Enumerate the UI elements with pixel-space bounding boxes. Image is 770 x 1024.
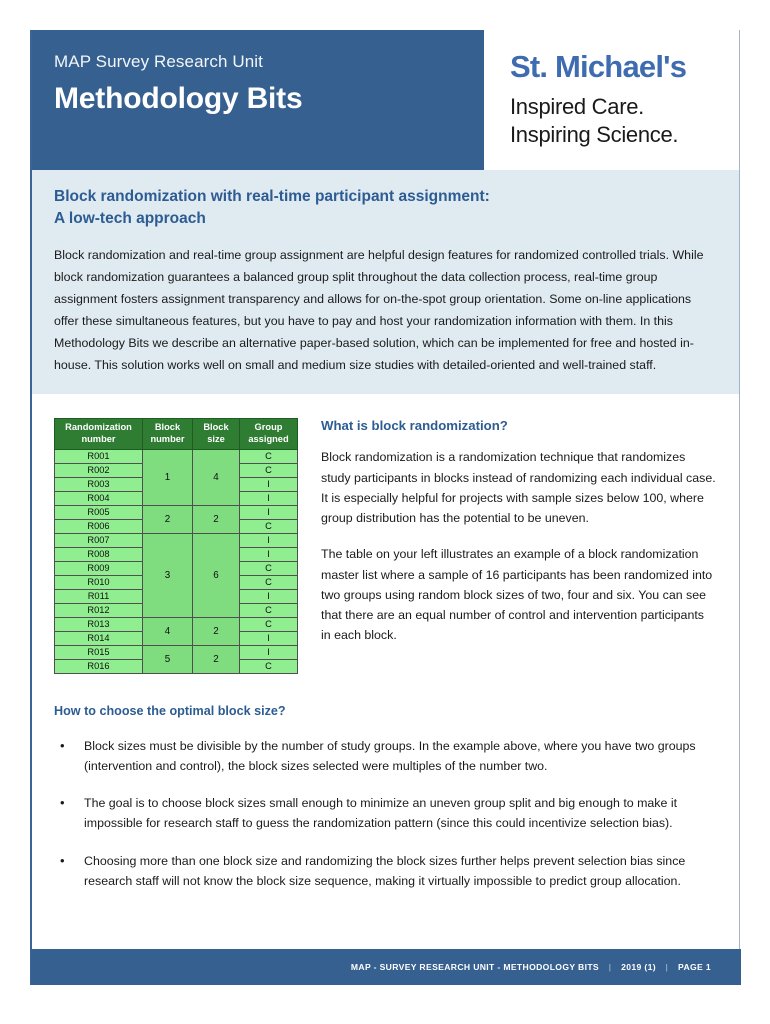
masthead-title-block: MAP Survey Research Unit Methodology Bit… [32,30,484,170]
cell-block-size: 4 [193,450,240,506]
sidebar-paragraph-2: The table on your left illustrates an ex… [321,544,717,645]
cell-group-assigned: C [240,618,298,632]
randomization-table: Randomization number Block number Block … [54,418,298,674]
footer-separator-2: | [666,962,669,972]
cell-randomization-number: R009 [55,562,143,576]
logo-brand-name: St. Michael's [510,50,739,84]
table-row: R00736I [55,534,298,548]
cell-group-assigned: I [240,506,298,520]
sidebar-heading: What is block randomization? [321,418,717,433]
cell-block-size: 2 [193,618,240,646]
block-size-heading: How to choose the optimal block size? [54,704,715,718]
article-title-line-2: A low-tech approach [54,208,717,230]
unit-kicker: MAP Survey Research Unit [54,52,484,72]
column-header-block-size: Block size [193,419,240,450]
cell-group-assigned: I [240,478,298,492]
cell-randomization-number: R012 [55,604,143,618]
cell-randomization-number: R008 [55,548,143,562]
cell-randomization-number: R006 [55,520,143,534]
content-columns: Randomization number Block number Block … [32,394,739,674]
cell-group-assigned: C [240,604,298,618]
randomization-table-body: R00114CR002CR003IR004IR00522IR006CR00736… [55,450,298,674]
sidebar-paragraph-1: Block randomization is a randomization t… [321,447,717,528]
intro-band: Block randomization with real-time parti… [32,170,739,394]
cell-randomization-number: R002 [55,464,143,478]
cell-randomization-number: R010 [55,576,143,590]
table-row: R00522I [55,506,298,520]
cell-group-assigned: I [240,632,298,646]
table-header-row: Randomization number Block number Block … [55,419,298,450]
cell-group-assigned: I [240,590,298,604]
list-item: Block sizes must be divisible by the num… [54,736,715,776]
logo-tagline-line-2: Inspiring Science. [510,121,739,149]
cell-randomization-number: R007 [55,534,143,548]
intro-paragraph: Block randomization and real-time group … [54,244,717,376]
cell-group-assigned: C [240,576,298,590]
cell-group-assigned: C [240,450,298,464]
block-size-section: How to choose the optimal block size? Bl… [32,674,739,891]
explanation-column: What is block randomization? Block rando… [321,416,717,674]
cell-group-assigned: C [240,562,298,576]
cell-group-assigned: C [240,520,298,534]
cell-randomization-number: R005 [55,506,143,520]
cell-randomization-number: R003 [55,478,143,492]
list-item: Choosing more than one block size and ra… [54,851,715,891]
table-column: Randomization number Block number Block … [54,416,299,674]
cell-block-size: 6 [193,534,240,618]
table-row: R00114C [55,450,298,464]
cell-randomization-number: R016 [55,660,143,674]
footer-text: MAP - SURVEY RESEARCH UNIT - METHODOLOGY… [351,962,711,972]
hospital-logo: St. Michael's Inspired Care. Inspiring S… [484,30,739,170]
cell-group-assigned: I [240,492,298,506]
table-row: R01342C [55,618,298,632]
cell-block-number: 2 [143,506,193,534]
masthead: MAP Survey Research Unit Methodology Bit… [32,30,739,170]
cell-group-assigned: I [240,548,298,562]
cell-block-size: 2 [193,646,240,674]
cell-block-number: 1 [143,450,193,506]
publication-title: Methodology Bits [54,82,484,117]
footer-issue: 2019 (1) [621,962,656,972]
cell-group-assigned: C [240,464,298,478]
page-sheet: MAP Survey Research Unit Methodology Bit… [30,30,740,985]
cell-group-assigned: I [240,534,298,548]
cell-randomization-number: R004 [55,492,143,506]
logo-tagline-line-1: Inspired Care. [510,93,739,121]
cell-block-number: 5 [143,646,193,674]
cell-group-assigned: I [240,646,298,660]
logo-tagline: Inspired Care. Inspiring Science. [510,93,739,149]
table-row: R01552I [55,646,298,660]
footer-source: MAP - SURVEY RESEARCH UNIT - METHODOLOGY… [351,962,599,972]
cell-block-number: 3 [143,534,193,618]
cell-randomization-number: R015 [55,646,143,660]
cell-block-number: 4 [143,618,193,646]
column-header-block-number: Block number [143,419,193,450]
footer-page-number: PAGE 1 [678,962,711,972]
cell-randomization-number: R014 [55,632,143,646]
cell-randomization-number: R011 [55,590,143,604]
article-title: Block randomization with real-time parti… [54,186,717,231]
footer-separator-1: | [609,962,612,972]
list-item: The goal is to choose block sizes small … [54,793,715,833]
cell-randomization-number: R001 [55,450,143,464]
cell-randomization-number: R013 [55,618,143,632]
page-footer: MAP - SURVEY RESEARCH UNIT - METHODOLOGY… [31,949,741,985]
column-header-group-assigned: Group assigned [240,419,298,450]
article-title-line-1: Block randomization with real-time parti… [54,186,717,208]
cell-block-size: 2 [193,506,240,534]
cell-group-assigned: C [240,660,298,674]
block-size-bullet-list: Block sizes must be divisible by the num… [54,736,715,891]
column-header-randomization-number: Randomization number [55,419,143,450]
